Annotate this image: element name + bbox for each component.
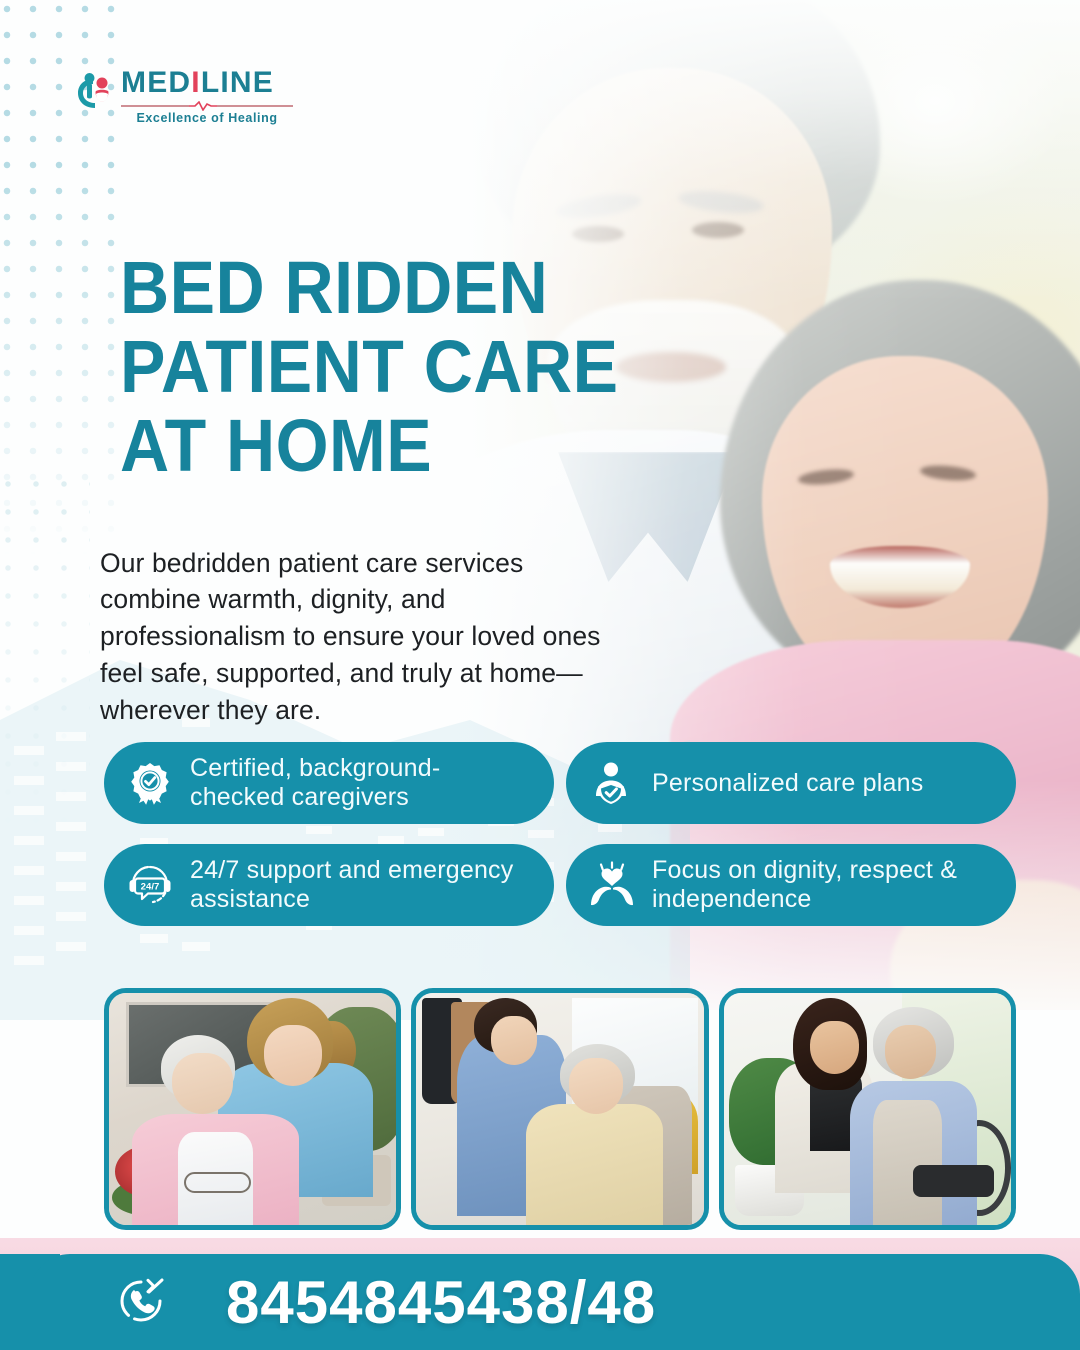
feature-label: 24/7 support and emergency assistance	[190, 856, 528, 914]
gallery-photo-2	[411, 988, 708, 1230]
logo-name-part2: LINE	[201, 66, 274, 99]
photo1-eyeglasses	[184, 1172, 251, 1192]
feature-pill-certified-caregivers[interactable]: Certified, background-checked caregivers	[104, 742, 554, 824]
feature-label: Focus on dignity, respect & independence	[652, 856, 990, 914]
photo-gallery	[104, 988, 1016, 1230]
headset-24-7-icon: 24/7	[126, 861, 174, 909]
logo-name: MEDILINE	[121, 68, 293, 98]
logo-name-part1: MED	[121, 66, 191, 99]
photo2-elder-face	[569, 1058, 624, 1114]
hands-holding-heart-icon	[588, 861, 636, 909]
family-care-logo-icon	[75, 70, 115, 114]
photo1-elder-face	[172, 1053, 232, 1113]
phone-number[interactable]: 8454845438/48	[226, 1268, 656, 1337]
certified-badge-check-icon	[126, 759, 174, 807]
dot-pattern-decoration-lower	[0, 470, 90, 890]
contact-footer: 8454845438/48	[30, 1254, 1080, 1350]
photo3-elder-blouse	[873, 1100, 942, 1225]
feature-pill-24-7-support[interactable]: 24/7 24/7 support and emergency assistan…	[104, 844, 554, 926]
intro-paragraph: Our bedridden patient care services comb…	[100, 545, 610, 729]
photo3-wheelchair-armrest	[913, 1165, 993, 1197]
logo-wordmark: MEDILINE Excellence of Healing	[121, 68, 293, 125]
feature-list: Certified, background-checked caregivers…	[104, 742, 1016, 926]
feature-label: Certified, background-checked caregivers	[190, 754, 528, 812]
logo-name-accent: I	[191, 66, 201, 99]
headline-line-3: AT HOME	[120, 406, 598, 485]
logo-heartbeat-rule	[121, 101, 293, 110]
headline-line-1: BED RIDDEN	[120, 248, 598, 327]
photo2-nurse-face	[491, 1016, 537, 1065]
page-title: BED RIDDEN PATIENT CARE AT HOME	[120, 248, 598, 486]
feature-label: Personalized care plans	[652, 769, 923, 798]
flyer-canvas: MEDILINE Excellence of Healing BED RIDDE…	[0, 0, 1080, 1350]
feature-pill-personalized-care-plans[interactable]: Personalized care plans	[566, 742, 1016, 824]
gallery-photo-3	[719, 988, 1016, 1230]
headline-line-2: PATIENT CARE	[120, 327, 598, 406]
logo-tagline: Excellence of Healing	[121, 111, 293, 125]
incoming-call-phone-icon	[118, 1278, 164, 1324]
feature-pill-dignity-respect[interactable]: Focus on dignity, respect & independence	[566, 844, 1016, 926]
photo3-caregiver-face	[810, 1021, 859, 1074]
svg-text:24/7: 24/7	[141, 882, 160, 893]
photo1-caregiver-face	[264, 1025, 321, 1085]
brand-logo[interactable]: MEDILINE Excellence of Healing	[75, 68, 293, 125]
photo2-elder-sweater	[526, 1104, 664, 1225]
person-shield-check-icon	[588, 759, 636, 807]
gallery-photo-1	[104, 988, 401, 1230]
photo3-elder-face	[885, 1025, 937, 1078]
